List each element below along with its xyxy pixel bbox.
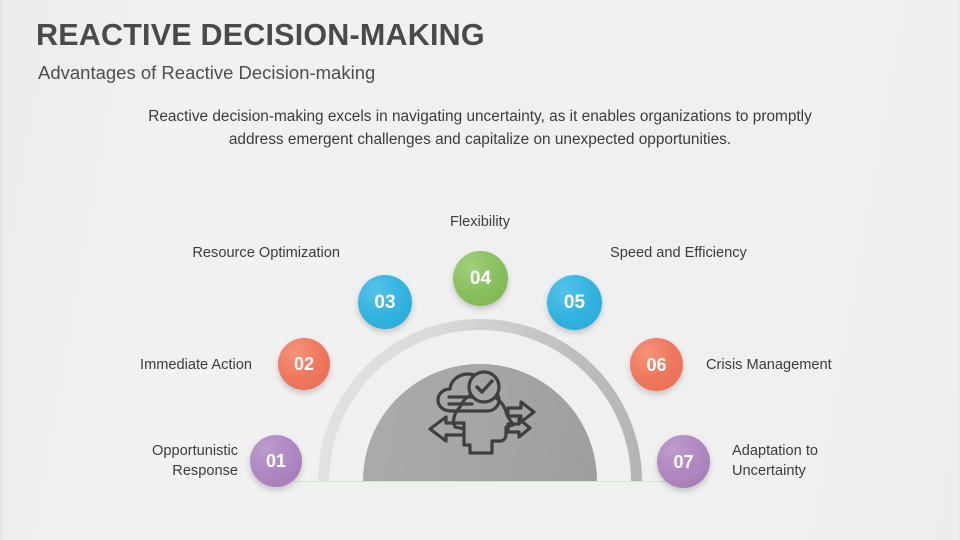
- head-brain-arrows-check-icon: [424, 367, 536, 459]
- node-04[interactable]: 04: [453, 251, 508, 306]
- node-03[interactable]: 03: [358, 275, 412, 329]
- page-subtitle: Advantages of Reactive Decision-making: [38, 62, 375, 84]
- lead-paragraph: Reactive decision-making excels in navig…: [120, 105, 840, 151]
- node-label-06: Crisis Management: [706, 355, 916, 375]
- node-05[interactable]: 05: [547, 275, 602, 330]
- node-06[interactable]: 06: [630, 338, 683, 391]
- node-label-04: Flexibility: [400, 212, 560, 232]
- arch-baseline: [284, 481, 676, 482]
- node-label-05: Speed and Efficiency: [610, 243, 830, 263]
- page-title: REACTIVE DECISION-MAKING: [36, 18, 485, 53]
- arch-graphic: [318, 325, 642, 481]
- node-02[interactable]: 02: [278, 338, 330, 390]
- node-label-02: Immediate Action: [60, 355, 252, 375]
- slide: REACTIVE DECISION-MAKING Advantages of R…: [0, 0, 960, 540]
- node-label-01: Opportunistic Response: [110, 441, 238, 481]
- node-label-07: Adaptation to Uncertainty: [732, 441, 882, 481]
- node-07[interactable]: 07: [657, 435, 710, 488]
- node-01[interactable]: 01: [250, 435, 302, 487]
- node-label-03: Resource Optimization: [120, 243, 340, 263]
